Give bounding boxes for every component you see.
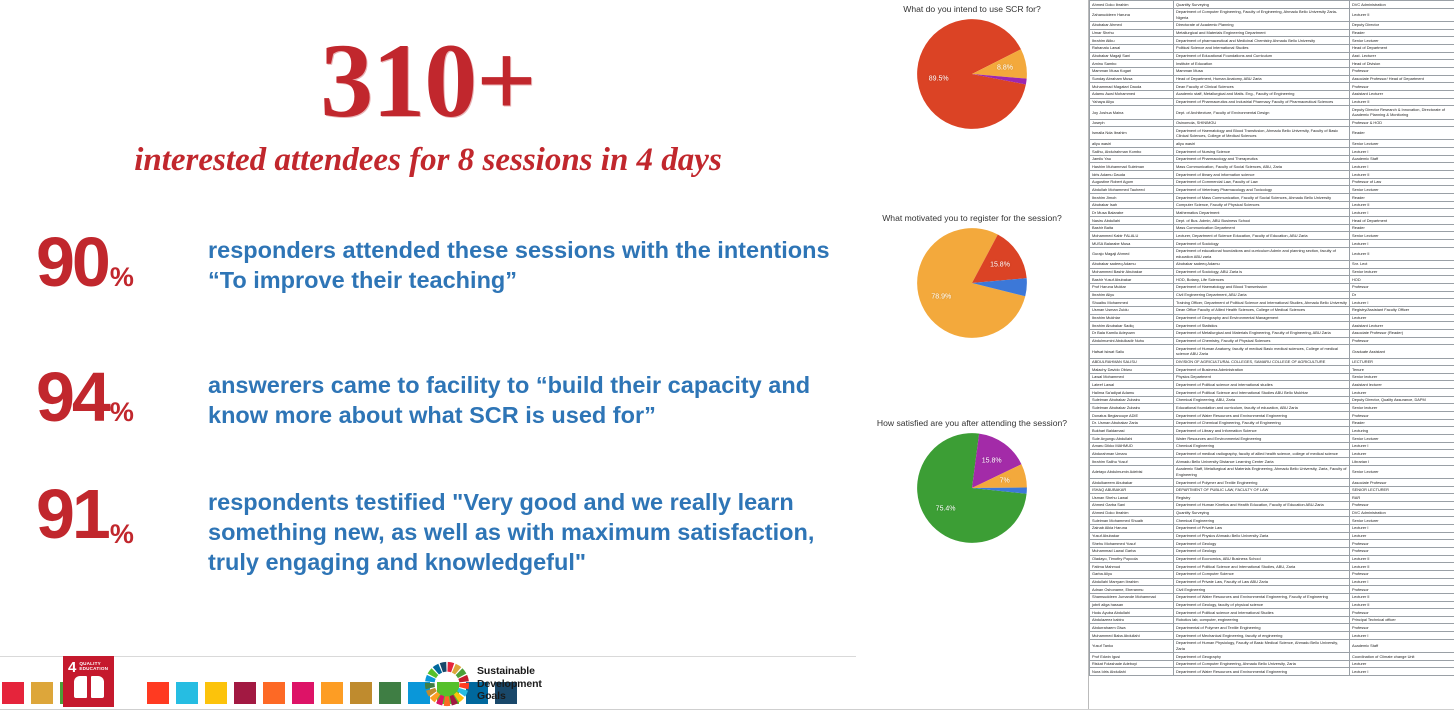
table-cell: Lecturer II	[1350, 201, 1454, 209]
table-cell: Ismaila Nda Ibrahim	[1090, 127, 1174, 140]
table-cell: Rahanatu Lawal	[1090, 44, 1174, 52]
table-cell: Prof Edwin Igusi	[1090, 653, 1174, 661]
table-cell: Abdullahi Marryam Ibrahim	[1090, 578, 1174, 586]
table-cell: Nasiru Abdullahi	[1090, 217, 1174, 225]
table-cell: Dean Faculty of Clinical Sciences	[1174, 83, 1350, 91]
table-cell: Dr	[1350, 291, 1454, 299]
table-cell: Departmental of Polymer and Textile Engi…	[1174, 624, 1350, 632]
table-row[interactable]: Suleiman Abubakar ZubairuChemical Engine…	[1090, 396, 1454, 404]
table-cell: aliyu wasiri	[1174, 140, 1350, 148]
table-cell: Suleiman Abubakar Zubairu	[1090, 396, 1174, 404]
table-cell: Department of Statistics	[1174, 322, 1350, 330]
table-cell: Department of Human Anatomy, faculty of …	[1174, 345, 1350, 358]
table-row[interactable]: Halima Sa'adiyat AdamuDepartment of Poli…	[1090, 389, 1454, 397]
table-row[interactable]: Bashir BaitaMass Communication Departmen…	[1090, 224, 1454, 232]
table-row[interactable]: Lawal MohammedPhysics DepartmentSenior l…	[1090, 373, 1454, 381]
table-cell: Abdulazeez kabiru	[1090, 616, 1174, 624]
table-row[interactable]: Adetayo Abdulmumin AdebisiAcademic Staff…	[1090, 465, 1454, 478]
table-row[interactable]: Sunday Abraham MusaHead of Department, H…	[1090, 75, 1454, 83]
table-row[interactable]: Ahmed Garba SaniDepartment of Human Kine…	[1090, 501, 1454, 509]
pie-chart-satisfaction: 75.4%15.8%7%	[916, 432, 1028, 544]
sdg-goal-4-badge: 4 QUALITY EDUCATION	[63, 656, 114, 707]
table-row[interactable]: Rahanatu LawalPolitical Science and Inte…	[1090, 44, 1454, 52]
table-cell: Ahmed Doko Ibrahim	[1090, 509, 1174, 517]
table-cell: Donatus Begianouye ADIE	[1090, 412, 1174, 420]
table-cell: Senior Lecturer	[1350, 186, 1454, 194]
sdg-wordmark-line1: Sustainable	[477, 665, 542, 677]
table-cell: Training Officer, Department of Politica…	[1174, 299, 1350, 307]
table-row[interactable]: Ibrahim AliyuCivil Engineering Departmen…	[1090, 291, 1454, 299]
table-cell: Adetayo Abdulmumin Adebisi	[1090, 465, 1174, 478]
table-row[interactable]: Abdulmumini Abdulkadir NuhuDepartment of…	[1090, 337, 1454, 345]
table-row[interactable]: Usman Usman ZuiduDean Office Faculty of …	[1090, 306, 1454, 314]
table-cell: Suleiman Mohammed Shuaib	[1090, 517, 1174, 525]
table-cell: Registry	[1174, 494, 1350, 502]
table-cell: Head of Division	[1350, 60, 1454, 68]
table-row[interactable]: Ibrahim JimohDepartment of Mass Communic…	[1090, 194, 1454, 202]
table-cell: Sule Argungu Abdullahi	[1090, 435, 1174, 443]
table-cell: Ahmed Garba Sani	[1090, 501, 1174, 509]
table-row[interactable]: Idris Adamu DaudaDepartment of library a…	[1090, 171, 1454, 179]
table-row[interactable]: Garba AliyuDepartment of Computer Scienc…	[1090, 570, 1454, 578]
table-cell: Joseph	[1090, 119, 1174, 127]
table-cell: Senior Lecturer	[1350, 140, 1454, 148]
chart-title: What motivated you to register for the s…	[856, 213, 1088, 223]
table-row[interactable]: Malachy Davido ObiwuDepartment of Busine…	[1090, 366, 1454, 374]
table-cell: Civil Engineering	[1174, 586, 1350, 594]
table-cell: Academic Staff	[1350, 155, 1454, 163]
table-cell: Department of Physics Ahmadu Bello Unive…	[1174, 532, 1350, 540]
table-cell: SENIOR LECTURER	[1350, 486, 1454, 494]
table-cell: Professor of Law	[1350, 178, 1454, 186]
table-cell: Graduate Assistant	[1350, 345, 1454, 358]
table-cell: Ibrahim Mukhtar	[1090, 314, 1174, 322]
table-cell: Jamilu Yau	[1090, 155, 1174, 163]
table-cell: Academic staff, Metallurgical and Matls.…	[1174, 90, 1350, 98]
table-row[interactable]: Dr Musa BalarabeMathematics DepartmentLe…	[1090, 209, 1454, 217]
sdg-logo: Sustainable Development Goals	[424, 661, 542, 707]
table-cell: Head of Department, Human Anatomy, ABU Z…	[1174, 75, 1350, 83]
table-cell: Department of Political Science and Inte…	[1174, 563, 1350, 571]
table-row[interactable]: Mamman Musa KogariMamman MusaProfessor	[1090, 67, 1454, 75]
table-cell: Mohammed Kabir FALALU	[1090, 232, 1174, 240]
table-row[interactable]: Oladayo, Timothy PopoolaDepartment of Ec…	[1090, 555, 1454, 563]
sdg-chip	[205, 682, 227, 704]
table-cell: Dept. of Architecture, Faculty of Enviro…	[1174, 106, 1350, 119]
table-row[interactable]: Donatus Begianouye ADIEDepartment of Wat…	[1090, 412, 1454, 420]
participant-roster-table: Ahmed Doko IbrahimQuantity SurveyingDVC …	[1089, 0, 1454, 676]
table-cell: Shamsuddeen Jumande Mohammad	[1090, 593, 1174, 601]
stat-description: responders attended these sessions with …	[208, 229, 836, 295]
table-cell: Department of Pharmaceutics and Industri…	[1174, 98, 1350, 106]
table-row[interactable]: Abubakar Magaji SaniDepartment of Educat…	[1090, 52, 1454, 60]
table-row[interactable]: Dr Bala Kamilu AdeyuwnDepartment of Meta…	[1090, 329, 1454, 337]
table-cell: Professor	[1350, 412, 1454, 420]
table-cell: Robotics lab, computer, engineering	[1174, 616, 1350, 624]
table-cell: Abubakar Ahmed	[1090, 21, 1174, 29]
table-cell: Deputy Director	[1350, 21, 1454, 29]
table-cell: Abdullah Mohammed Tauheed	[1090, 186, 1174, 194]
table-cell: Hafsat Isiwat Saliu	[1090, 345, 1174, 358]
stat-unit: %	[110, 521, 134, 548]
table-cell: Lecturer I	[1350, 148, 1454, 156]
table-cell: Professor	[1350, 624, 1454, 632]
charts-column: What do you intend to use SCR for? 89.5%…	[856, 0, 1088, 712]
table-cell: Head of Department	[1350, 44, 1454, 52]
table-cell: Lecturer I	[1350, 524, 1454, 532]
table-cell: DVC Administration	[1350, 509, 1454, 517]
sdg-footer: 4 QUALITY EDUCATION Sustainable Developm…	[0, 656, 856, 712]
table-row[interactable]: Abdulkareem AbubakarDepartment of Polyme…	[1090, 479, 1454, 487]
table-row[interactable]: Hashim Muhammad SuleimanMass Communicati…	[1090, 163, 1454, 171]
pie-slice-label: 15.8%	[990, 261, 1010, 268]
table-cell: Department of Library and Information Sc…	[1174, 427, 1350, 435]
table-cell: Water Resources and Environmental Engine…	[1174, 435, 1350, 443]
table-cell: Metallurgical and Materials Engineering …	[1174, 29, 1350, 37]
participant-roster-panel[interactable]: Ahmed Doko IbrahimQuantity SurveyingDVC …	[1088, 0, 1454, 712]
table-row[interactable]: Shuaibu MohammedTraining Officer, Depart…	[1090, 299, 1454, 307]
stat-row: 90 % responders attended these sessions …	[36, 229, 836, 296]
sdg-chip	[2, 682, 24, 704]
table-cell: Educational foundation and curriculum, f…	[1174, 404, 1350, 412]
pie-chart-intended-use: 89.5%8.8%	[916, 18, 1028, 130]
table-row[interactable]: Muhammad Lawal GarbaDepartment of Geolog…	[1090, 547, 1454, 555]
chart-title: What do you intend to use SCR for?	[856, 4, 1088, 14]
table-cell: Dean Office Faculty of Allied Health Sci…	[1174, 306, 1350, 314]
table-cell: Oladayo, Timothy Popoola	[1090, 555, 1174, 563]
table-cell: Assistant Lecturer	[1350, 322, 1454, 330]
table-cell: Registry/Assistant Faculty Officer	[1350, 306, 1454, 314]
table-row[interactable]: Aminu SamboInstitute of EducationHead of…	[1090, 60, 1454, 68]
pie-slice-label: 78.9%	[931, 293, 951, 300]
table-cell: LECTURER	[1350, 358, 1454, 366]
table-cell: Dept. of Bus. Admin, ABU Business School	[1174, 217, 1350, 225]
table-row[interactable]: Ismaila Nda IbrahimDepartment of Haemato…	[1090, 127, 1454, 140]
table-cell: Lecturer I	[1350, 163, 1454, 171]
table-row[interactable]: Muhammed Baba AbdullahiDepartment of Mec…	[1090, 632, 1454, 640]
table-row[interactable]: ISHAQ ABUBAKARDEPARTMENT OF PUBLIC LAW, …	[1090, 486, 1454, 494]
table-row[interactable]: Mohammed Kabir FALALULecturer, Departmen…	[1090, 232, 1454, 240]
summary-panel: 310+ interested attendees for 8 sessions…	[0, 0, 856, 712]
chart-block: What motivated you to register for the s…	[856, 213, 1088, 339]
table-row[interactable]: Augustine Robert AgomDepartment of Comme…	[1090, 178, 1454, 186]
table-row[interactable]: Ibrahim Salihu YusufAhmadu Bello Univers…	[1090, 458, 1454, 466]
table-cell: Dr. Usman Abubakar Zaria	[1090, 419, 1174, 427]
table-cell: Reader	[1350, 419, 1454, 427]
table-cell: DIVISION OF AGRICULTURAL COLLEGES, SAMAR…	[1174, 358, 1350, 366]
page-title: 310+	[0, 28, 856, 134]
table-cell: Yusuf Abubakar	[1090, 532, 1174, 540]
table-cell: Lecturer II	[1350, 593, 1454, 601]
table-cell: aliyu wasiri	[1090, 140, 1174, 148]
table-cell: Fatima Mahmud	[1090, 563, 1174, 571]
table-row[interactable]: jobril aliga hassanDepartment of Geology…	[1090, 601, 1454, 609]
table-cell: ABDULRAHMAN SALISU	[1090, 358, 1174, 366]
table-cell: Department of Political science and Inte…	[1174, 609, 1350, 617]
table-cell: Hodu Ayuba Abdullahi	[1090, 609, 1174, 617]
table-cell: Lecturer	[1350, 450, 1454, 458]
sdg-chip	[379, 682, 401, 704]
table-row[interactable]: Abdulazeez kabiruRobotics lab, computer,…	[1090, 616, 1454, 624]
table-row[interactable]: Jamilu YauDepartment of Pharmacology and…	[1090, 155, 1454, 163]
table-cell: Directorate of Academic Planning	[1174, 21, 1350, 29]
pie-slice-label: 89.5%	[929, 75, 949, 82]
pie-svg	[916, 18, 1028, 130]
table-cell: Yusuf Tanko	[1090, 639, 1174, 652]
table-cell: Professor	[1350, 501, 1454, 509]
table-cell: Department of Veterinary Pharmacology an…	[1174, 186, 1350, 194]
table-cell: Department of Chemistry, Faculty of Phys…	[1174, 337, 1350, 345]
sdg-wheel-segment	[425, 683, 435, 690]
table-cell: Lecturer II	[1350, 98, 1454, 106]
pie-slice-label: 15.8%	[982, 458, 1002, 465]
table-cell: Adamu Awal Mohammed	[1090, 90, 1174, 98]
table-row[interactable]: Sule Argungu AbdullahiWater Resources an…	[1090, 435, 1454, 443]
table-cell: Mass Communication Department	[1174, 224, 1350, 232]
table-cell: Professor	[1350, 586, 1454, 594]
table-cell: Department of Private Law	[1174, 524, 1350, 532]
table-row[interactable]: Zainab Alkia HarunaDepartment of Private…	[1090, 524, 1454, 532]
table-row[interactable]: Yahaya AliyuDepartment of Pharmaceutics …	[1090, 98, 1454, 106]
table-cell: Abubakar sadeeq Adamu	[1090, 260, 1174, 268]
table-cell: Professor	[1350, 283, 1454, 291]
table-cell: Associate Professor (Reader)	[1350, 329, 1454, 337]
table-cell: Academic Staff, Metallurgical and Materi…	[1174, 465, 1350, 478]
table-row[interactable]: Salihu, Abdulrahman KomboDepartment of N…	[1090, 148, 1454, 156]
table-cell: Department of Geography and Environmenta…	[1174, 314, 1350, 322]
stat-row: 94 % answerers came to facility to “buil…	[36, 364, 836, 431]
table-cell: Zahanuddeen Haruna	[1090, 8, 1174, 21]
table-cell: Lecturer I	[1350, 578, 1454, 586]
table-cell: Librarian I	[1350, 458, 1454, 466]
table-row[interactable]: Mohammed Bashir AbubakarDepartment of So…	[1090, 268, 1454, 276]
table-cell: Department of Geology, faculty of physic…	[1174, 601, 1350, 609]
table-row[interactable]: Suleiman Abubakar ZubairuEducational fou…	[1090, 404, 1454, 412]
table-cell: Lecturer II	[1350, 563, 1454, 571]
table-cell: Senior Lecturer	[1350, 232, 1454, 240]
table-row[interactable]: Suleiman Mohammed ShuaibChemical Enginee…	[1090, 517, 1454, 525]
table-cell: Dr Musa Balarabe	[1090, 209, 1174, 217]
table-cell: Abubakar Isah	[1090, 201, 1174, 209]
table-cell: Assistant Lecturer	[1350, 90, 1454, 98]
table-cell: Ibrahim Aliyu	[1090, 291, 1174, 299]
table-cell: Coordination of Climate change Unit	[1350, 653, 1454, 661]
table-row[interactable]: Abdullah Mohammed TauheedDepartment of V…	[1090, 186, 1454, 194]
table-row[interactable]: Nura Idris AbdullahiDepartment of Water …	[1090, 668, 1454, 676]
table-cell: Garba Aliyu	[1090, 570, 1174, 578]
table-row[interactable]: Shehu Mohammed YusufDepartment of Geolog…	[1090, 540, 1454, 548]
table-cell: Department of Economics, ABU Business Sc…	[1174, 555, 1350, 563]
table-row[interactable]: Abubakar IsahComputer Science, Faculty o…	[1090, 201, 1454, 209]
table-cell: Department of Pharmacology and Therapeut…	[1174, 155, 1350, 163]
table-cell: Adnan Oshoname, Eberanmu	[1090, 586, 1174, 594]
table-row[interactable]: Adnan Oshoname, EberanmuCivil Engineerin…	[1090, 586, 1454, 594]
table-row[interactable]: Amaru Dikko MAHMUDChemical EngineeringLe…	[1090, 442, 1454, 450]
table-cell: Lecturer I	[1350, 209, 1454, 217]
table-cell: Aminu Sambo	[1090, 60, 1174, 68]
table-row[interactable]: Ibrahim MukhtarDepartment of Geography a…	[1090, 314, 1454, 322]
table-cell: Lecturer	[1350, 532, 1454, 540]
table-row[interactable]: Ibrahim Abubakar SadiqDepartment of Stat…	[1090, 322, 1454, 330]
headline-subtitle: interested attendees for 8 sessions in 4…	[0, 142, 856, 179]
table-cell: Department of Geography	[1174, 653, 1350, 661]
sdg-wordmark-line3: Goals	[477, 690, 542, 702]
table-cell: Sunday Abraham Musa	[1090, 75, 1174, 83]
table-cell: Halima Sa'adiyat Adamu	[1090, 389, 1174, 397]
table-cell: Professor	[1350, 547, 1454, 555]
table-cell: Associate Professor	[1350, 479, 1454, 487]
table-row[interactable]: Bukhari BaldamasiDepartment of Library a…	[1090, 427, 1454, 435]
table-cell: Gurajo Magaji Ahmed	[1090, 247, 1174, 260]
table-row[interactable]: Prof Haruna MuktarDepartment of Haematol…	[1090, 283, 1454, 291]
table-cell: Malachy Davido Obiwu	[1090, 366, 1174, 374]
table-row[interactable]: Adamu Awal MohammedAcademic staff, Metal…	[1090, 90, 1454, 98]
table-row[interactable]: aliyu wasirialiyu wasiriSenior Lecturer	[1090, 140, 1454, 148]
table-row[interactable]: Ibrahim AtikuDepartment of pharmaceutica…	[1090, 37, 1454, 45]
open-book-icon	[74, 676, 104, 698]
sdg-chip	[176, 682, 198, 704]
table-cell: Reader	[1350, 194, 1454, 202]
pie-holder: 78.9%15.8%	[856, 227, 1088, 339]
table-row[interactable]: Lateef LawalDepartment of Political scie…	[1090, 381, 1454, 389]
table-row[interactable]: Shamsuddeen Jumande MohammadDepartment o…	[1090, 593, 1454, 601]
table-cell: Umar Shehu	[1090, 29, 1174, 37]
table-cell: DVC Administration	[1350, 1, 1454, 9]
pie-chart-motivation: 78.9%15.8%	[916, 227, 1028, 339]
table-row[interactable]: Bashir Yusuf AbubakarHOD, Botany, Life S…	[1090, 276, 1454, 284]
table-row[interactable]: Muhammad Magatari DaudaDean Faculty of C…	[1090, 83, 1454, 91]
table-cell: Department of Polymer and Textile Engine…	[1174, 479, 1350, 487]
table-row[interactable]: Abdullahi Marryam IbrahimDepartment of P…	[1090, 578, 1454, 586]
table-row[interactable]: Fatima MahmudDepartment of Political Sci…	[1090, 563, 1454, 571]
table-cell: Department of educational foundations an…	[1174, 247, 1350, 260]
sdg-wordmark-line2: Development	[477, 678, 542, 690]
table-cell: Computer Science, Faculty of Physical Sc…	[1174, 201, 1350, 209]
table-cell: Osinomola, SHINIMGU	[1174, 119, 1350, 127]
pie-slice-label: 8.8%	[997, 64, 1013, 71]
table-cell: Suleiman Abubakar Zubairu	[1090, 404, 1174, 412]
table-cell: Mamman Musa Kogari	[1090, 67, 1174, 75]
sdg-chip	[292, 682, 314, 704]
table-row[interactable]: Yusuf AbubakarDepartment of Physics Ahma…	[1090, 532, 1454, 540]
table-row[interactable]: Riskat Folashade AdeboyiDepartment of Co…	[1090, 660, 1454, 668]
pie-svg	[916, 227, 1028, 339]
table-cell: Yahaya Aliyu	[1090, 98, 1174, 106]
table-cell: Idris Adamu Dauda	[1090, 171, 1174, 179]
table-cell: Department of Nursing Science	[1174, 148, 1350, 156]
table-row[interactable]: Zahanuddeen HarunaDepartment of Computer…	[1090, 8, 1454, 21]
chart-block: What do you intend to use SCR for? 89.5%…	[856, 4, 1088, 130]
table-cell: Bukhari Baldamasi	[1090, 427, 1174, 435]
table-row[interactable]: Dr. Usman Abubakar ZariaDepartment of Ch…	[1090, 419, 1454, 427]
table-cell: jobril aliga hassan	[1090, 601, 1174, 609]
sdg-chip	[31, 682, 53, 704]
sdg-chip	[263, 682, 285, 704]
table-cell: Shuaibu Mohammed	[1090, 299, 1174, 307]
table-cell: Usman Usman Zuidu	[1090, 306, 1174, 314]
table-cell: Hashim Muhammad Suleiman	[1090, 163, 1174, 171]
table-row[interactable]: Abdurrahaem GiwaDepartmental of Polymer …	[1090, 624, 1454, 632]
table-cell: Muhammad Lawal Garba	[1090, 547, 1174, 555]
table-cell: Associate Professor/ Head of Department	[1350, 75, 1454, 83]
stat-description: answerers came to facility to “build the…	[208, 364, 836, 430]
sdg-wordmark: Sustainable Development Goals	[477, 665, 542, 702]
table-cell: Asst. Lecturer	[1350, 52, 1454, 60]
table-row[interactable]: Abubakar sadeeq AdamuAbubakar sadeeq Ada…	[1090, 260, 1454, 268]
table-cell: Reader	[1350, 29, 1454, 37]
pie-slice-label: 75.4%	[936, 506, 956, 513]
table-row[interactable]: JosephOsinomola, SHINIMGUProfessor & HOD	[1090, 119, 1454, 127]
table-cell: Lecturer II	[1350, 8, 1454, 21]
table-cell: Institute of Education	[1174, 60, 1350, 68]
table-row[interactable]: Nasiru AbdullahiDept. of Bus. Admin, ABU…	[1090, 217, 1454, 225]
table-row[interactable]: MUSA Balarabe MusaDepartment of Sociolog…	[1090, 240, 1454, 248]
table-cell: HOD, Botany, Life Sciences	[1174, 276, 1350, 284]
table-cell: Department of Chemical Engineering, Facu…	[1174, 419, 1350, 427]
table-cell: Senior Lecturer	[1350, 465, 1454, 478]
table-row[interactable]: Joy Joshua MainaDept. of Architecture, F…	[1090, 106, 1454, 119]
table-cell: Professor	[1350, 337, 1454, 345]
table-cell: Lecturer	[1350, 660, 1454, 668]
table-cell: Department of Water Resources and Enviro…	[1174, 593, 1350, 601]
table-cell: Zainab Alkia Haruna	[1090, 524, 1174, 532]
table-row[interactable]: Ahmed Doko IbrahimQuantity SurveyingDVC …	[1090, 1, 1454, 9]
table-cell: Lecturer I	[1350, 668, 1454, 676]
table-cell: Muhammed Baba Abdullahi	[1090, 632, 1174, 640]
table-cell: Department of Human Kinetics and Health …	[1174, 501, 1350, 509]
pie-holder: 75.4%15.8%7%	[856, 432, 1088, 544]
table-row[interactable]: Gurajo Magaji AhmedDepartment of educati…	[1090, 247, 1454, 260]
table-row[interactable]: Hafsat Isiwat SaliuDepartment of Human A…	[1090, 345, 1454, 358]
table-cell: Quantity Surveying	[1174, 1, 1350, 9]
table-cell: Abdurahman Umaru	[1090, 450, 1174, 458]
table-cell: Department of Political Science and Inte…	[1174, 389, 1350, 397]
table-row[interactable]: Usman Shehu LawalRegistryRAR	[1090, 494, 1454, 502]
sdg-chip	[350, 682, 372, 704]
table-cell: Dr Bala Kamilu Adeyuwn	[1090, 329, 1174, 337]
table-cell: Department of pharmaceutical and Medicin…	[1174, 37, 1350, 45]
table-cell: Academic Staff	[1350, 639, 1454, 652]
stat-value: 90	[36, 229, 108, 296]
table-row[interactable]: Ahmed Doko IbrahimQuantity SurveyingDVC …	[1090, 509, 1454, 517]
table-row[interactable]: Abdurahman UmaruDepartment of medical ra…	[1090, 450, 1454, 458]
table-cell: Lateef Lawal	[1090, 381, 1174, 389]
table-cell: Senior lecturer	[1350, 404, 1454, 412]
table-cell: Abubakar sadeeq Adamu	[1174, 260, 1350, 268]
sdg-goal-number: 4	[68, 660, 76, 675]
table-cell: Ibrahim Abubakar Sadiq	[1090, 322, 1174, 330]
table-cell: Shehu Mohammed Yusuf	[1090, 540, 1174, 548]
table-cell: Mamman Musa	[1174, 67, 1350, 75]
table-cell: Ahmadu Bello University Distance Learnin…	[1174, 458, 1350, 466]
table-cell: Department of Private Law, Faculty of La…	[1174, 578, 1350, 586]
table-cell: Civil Engineering Department, ABU Zaria	[1174, 291, 1350, 299]
table-row[interactable]: Hodu Ayuba AbdullahiDepartment of Politi…	[1090, 609, 1454, 617]
table-cell: Department of Computer Science	[1174, 570, 1350, 578]
table-row[interactable]: Yusuf TankoDepartment of Human Physiolog…	[1090, 639, 1454, 652]
table-cell: Department of Computer Engineering, Facu…	[1174, 8, 1350, 21]
table-cell: Abubakar Magaji Sani	[1090, 52, 1174, 60]
table-row[interactable]: Abubakar AhmedDirectorate of Academic Pl…	[1090, 21, 1454, 29]
table-cell: Lecturer I	[1350, 632, 1454, 640]
table-row[interactable]: Umar ShehuMetallurgical and Materials En…	[1090, 29, 1454, 37]
table-row[interactable]: ABDULRAHMAN SALISUDIVISION OF AGRICULTUR…	[1090, 358, 1454, 366]
table-cell: Professor	[1350, 540, 1454, 548]
table-cell: Salihu, Abdulrahman Kombo	[1090, 148, 1174, 156]
pie-slice-label: 7%	[1000, 477, 1010, 484]
table-row[interactable]: Prof Edwin IgusiDepartment of GeographyC…	[1090, 653, 1454, 661]
table-cell: Amaru Dikko MAHMUD	[1090, 442, 1174, 450]
